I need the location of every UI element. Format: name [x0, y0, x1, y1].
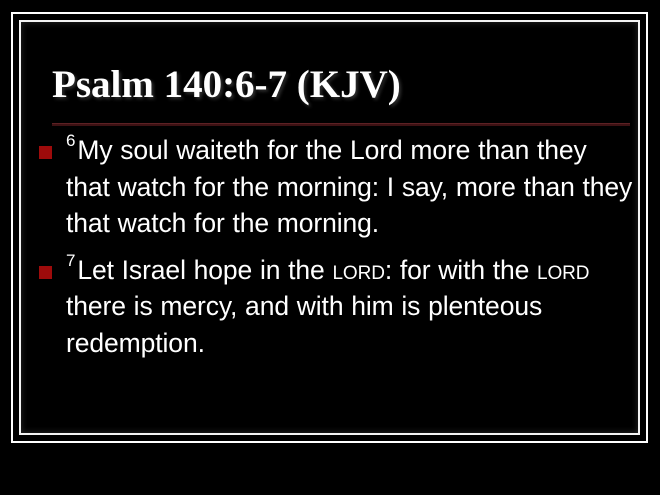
verse-text: 7Let Israel hope in the Lord: for with t… [66, 252, 636, 362]
verse-number: 7 [66, 251, 77, 270]
verse-list: 6My soul waiteth for the Lord more than … [30, 132, 636, 371]
slide-title: Psalm 140:6-7 (KJV) [52, 62, 401, 108]
list-item: 7Let Israel hope in the Lord: for with t… [30, 252, 636, 362]
square-bullet-icon [39, 146, 52, 159]
title-divider [52, 123, 630, 126]
divine-name-smallcaps: Lord [332, 255, 384, 285]
square-bullet-icon [39, 266, 52, 279]
verse-body: My soul waiteth for the Lord more than t… [66, 135, 632, 238]
verse-body-part: : for with the [385, 255, 537, 285]
verse-number: 6 [66, 131, 77, 150]
verse-text: 6My soul waiteth for the Lord more than … [66, 132, 636, 242]
verse-body-part: there is mercy, and with him is plenteou… [66, 291, 542, 358]
slide-content: Psalm 140:6-7 (KJV) 6My soul waiteth for… [24, 24, 636, 431]
divine-name-smallcaps: Lord [537, 255, 589, 285]
list-item: 6My soul waiteth for the Lord more than … [30, 132, 636, 242]
presentation-slide: Psalm 140:6-7 (KJV) 6My soul waiteth for… [0, 0, 660, 495]
verse-body-part: Let Israel hope in the [77, 255, 332, 285]
